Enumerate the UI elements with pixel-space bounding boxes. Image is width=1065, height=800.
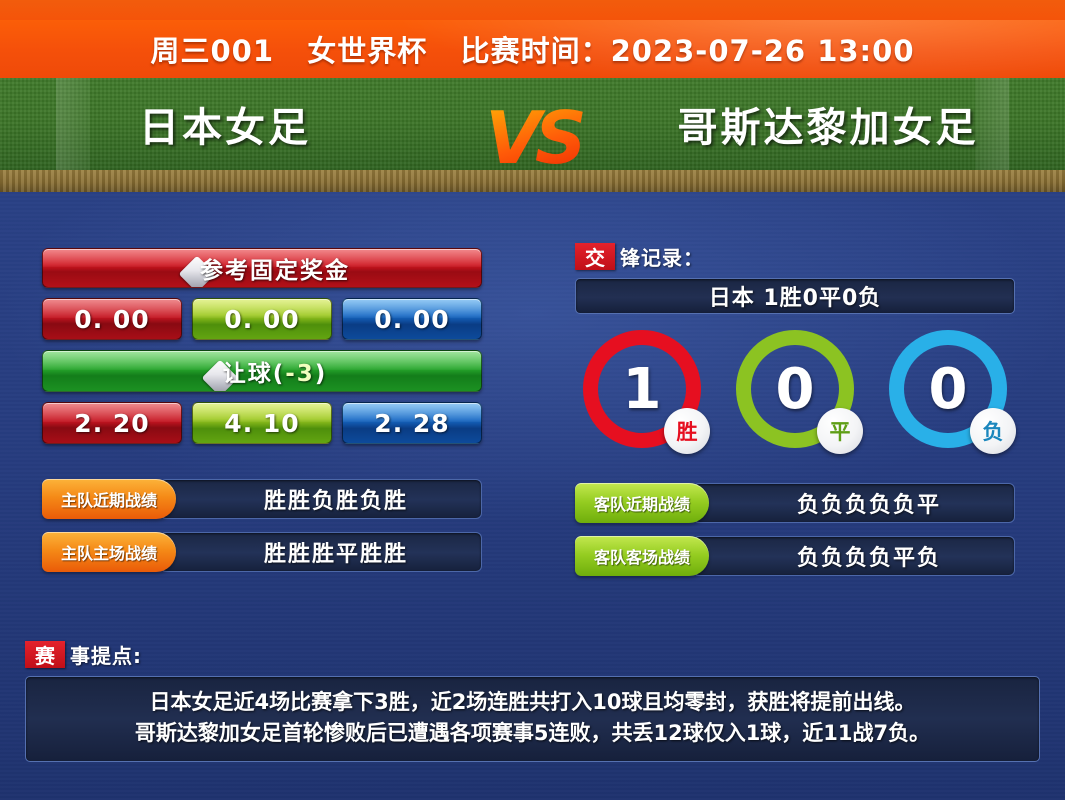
home-home-form-value: 胜胜胜平胜胜 — [264, 536, 408, 568]
home-team-name: 日本女足 — [0, 78, 470, 170]
tips-line: 日本女足近4场比赛拿下3胜，近2场连胜共打入10球且均零封，获胜将提前出线。 — [40, 687, 1025, 718]
away-recent-form-label: 客队近期战绩 — [575, 483, 709, 523]
fixed-odd-draw-value: 0. 00 — [224, 305, 299, 334]
home-recent-form-value: 胜胜负胜负胜 — [264, 483, 408, 515]
away-team-name: 哥斯达黎加女足 — [575, 78, 1065, 170]
tips-heading-text: 事提点: — [70, 640, 142, 669]
handicap-odds-row: 2. 20 4. 10 2. 28 — [42, 402, 482, 444]
h2h-ring-draw: 0 平 — [736, 330, 854, 448]
handicap-odd-home[interactable]: 2. 20 — [42, 402, 182, 444]
handicap-prefix: 让球( — [223, 361, 286, 387]
top-accent-strip — [0, 0, 1065, 20]
fixed-odd-home[interactable]: 0. 00 — [42, 298, 182, 340]
ring-draw-badge: 平 — [817, 408, 863, 454]
away-recent-form-value: 负负负负负平 — [797, 487, 941, 519]
handicap-title-bar: 让球(-3) — [42, 350, 482, 392]
handicap-odd-draw[interactable]: 4. 10 — [192, 402, 332, 444]
home-home-form-field: 胜胜胜平胜胜 — [160, 532, 482, 572]
handicap-odd-draw-value: 4. 10 — [224, 409, 299, 438]
h2h-summary-text: 日本 1胜0平0负 — [709, 280, 882, 312]
h2h-chip: 交 — [575, 243, 615, 270]
home-recent-form-label: 主队近期战绩 — [42, 479, 176, 519]
h2h-rings: 1 胜 0 平 0 负 — [575, 330, 1015, 448]
tips-line: 哥斯达黎加女足首轮惨败后已遭遇各项赛事5连败，共丢12球仅入1球，近11战7负。 — [40, 718, 1025, 749]
home-recent-form-row: 主队近期战绩 胜胜负胜负胜 — [42, 479, 482, 519]
match-header: 周三001 女世界杯 比赛时间：2023-07-26 13:00 — [0, 20, 1065, 78]
away-away-form-field: 负负负负平负 — [693, 536, 1015, 576]
tips-section: 赛 事提点: 日本女足近4场比赛拿下3胜，近2场连胜共打入10球且均零封，获胜将… — [25, 640, 1040, 762]
h2h-ring-win: 1 胜 — [583, 330, 701, 448]
ring-loss-badge: 负 — [970, 408, 1016, 454]
fixed-odd-home-value: 0. 00 — [74, 305, 149, 334]
tips-heading: 赛 事提点: — [25, 640, 1040, 668]
h2h-section: 交 锋记录： 日本 1胜0平0负 1 胜 0 平 0 负 — [575, 242, 1015, 576]
fixed-odds-title: 参考固定奖金 — [200, 251, 350, 285]
home-home-form-label: 主队主场战绩 — [42, 532, 176, 572]
away-away-form-value: 负负负负平负 — [797, 540, 941, 572]
handicap-title: 让球(-3) — [223, 354, 328, 388]
odds-section: 参考固定奖金 0. 00 0. 00 0. 00 让球(-3) 2. 20 4.… — [42, 248, 482, 572]
tips-chip: 赛 — [25, 641, 65, 668]
vs-icon: VS — [478, 80, 588, 195]
tips-box: 日本女足近4场比赛拿下3胜，近2场连胜共打入10球且均零封，获胜将提前出线。 哥… — [25, 676, 1040, 762]
handicap-value: -3 — [285, 361, 315, 387]
fixed-odds-title-bar: 参考固定奖金 — [42, 248, 482, 288]
h2h-ring-loss: 0 负 — [889, 330, 1007, 448]
match-preview-card: 周三001 女世界杯 比赛时间：2023-07-26 13:00 日本女足 VS… — [0, 0, 1065, 800]
h2h-heading-text: 锋记录： — [620, 242, 704, 271]
away-away-form-label: 客队客场战绩 — [575, 536, 709, 576]
handicap-odd-home-value: 2. 20 — [74, 409, 149, 438]
fixed-odd-away[interactable]: 0. 00 — [342, 298, 482, 340]
handicap-odd-away[interactable]: 2. 28 — [342, 402, 482, 444]
fixed-odds-row: 0. 00 0. 00 0. 00 — [42, 298, 482, 340]
handicap-odd-away-value: 2. 28 — [374, 409, 449, 438]
fixed-odd-away-value: 0. 00 — [374, 305, 449, 334]
h2h-summary-bar: 日本 1胜0平0负 — [575, 278, 1015, 314]
header-title: 周三001 女世界杯 比赛时间：2023-07-26 13:00 — [150, 28, 914, 70]
away-recent-form-field: 负负负负负平 — [693, 483, 1015, 523]
home-home-form-row: 主队主场战绩 胜胜胜平胜胜 — [42, 532, 482, 572]
fixed-odd-draw[interactable]: 0. 00 — [192, 298, 332, 340]
away-away-form-row: 客队客场战绩 负负负负平负 — [575, 536, 1015, 576]
ring-win-badge: 胜 — [664, 408, 710, 454]
h2h-heading: 交 锋记录： — [575, 242, 1015, 270]
handicap-suffix: ) — [315, 361, 328, 387]
away-recent-form-row: 客队近期战绩 负负负负负平 — [575, 483, 1015, 523]
home-recent-form-field: 胜胜负胜负胜 — [160, 479, 482, 519]
